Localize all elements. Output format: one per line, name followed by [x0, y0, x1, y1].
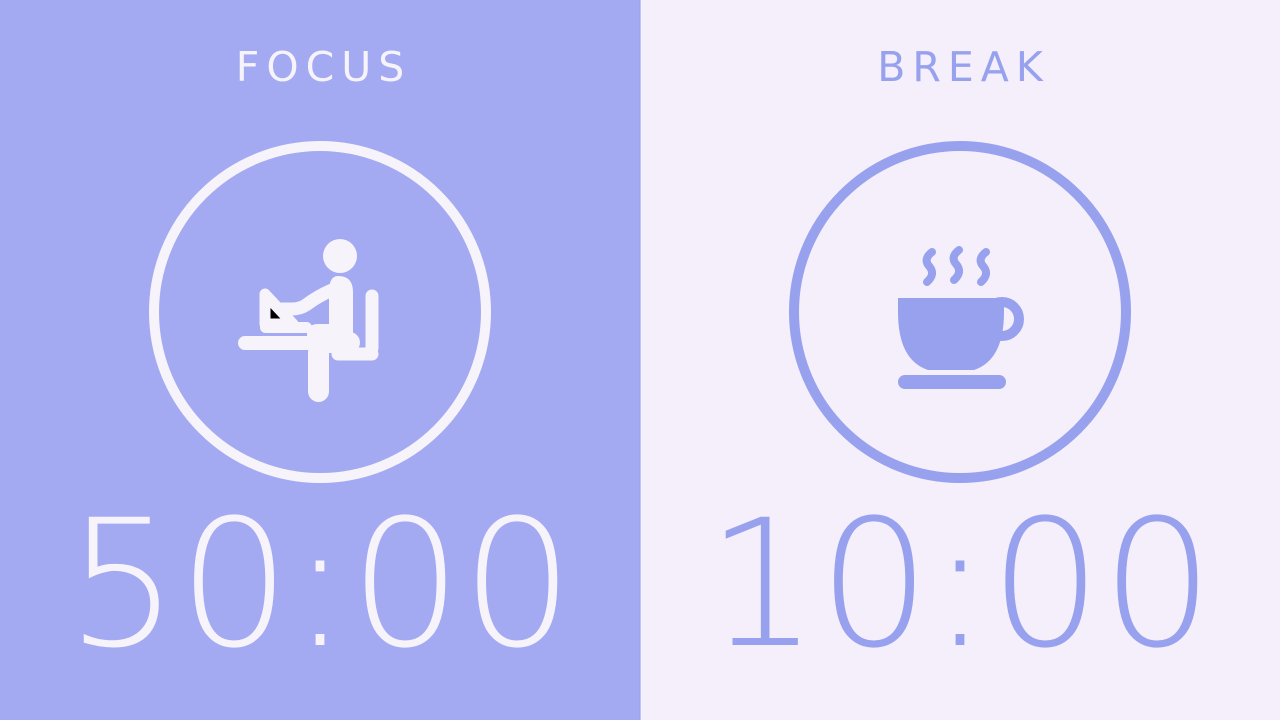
break-timer-display[interactable]: 10:00 — [640, 497, 1280, 673]
coffee-cup-icon — [860, 212, 1060, 412]
break-panel[interactable]: BREAK 10:00 — [640, 0, 1280, 720]
focus-panel[interactable]: FOCUS — [0, 0, 640, 720]
pomodoro-timer-screen: FOCUS — [0, 0, 1280, 720]
focus-icon-ring — [149, 141, 491, 483]
break-panel-label: BREAK — [640, 47, 1280, 88]
focus-panel-label: FOCUS — [0, 47, 640, 88]
panel-divider — [639, 0, 641, 720]
focus-timer-display[interactable]: 50:00 — [0, 497, 640, 673]
person-at-laptop-icon — [220, 212, 420, 412]
break-icon-ring — [789, 141, 1131, 483]
